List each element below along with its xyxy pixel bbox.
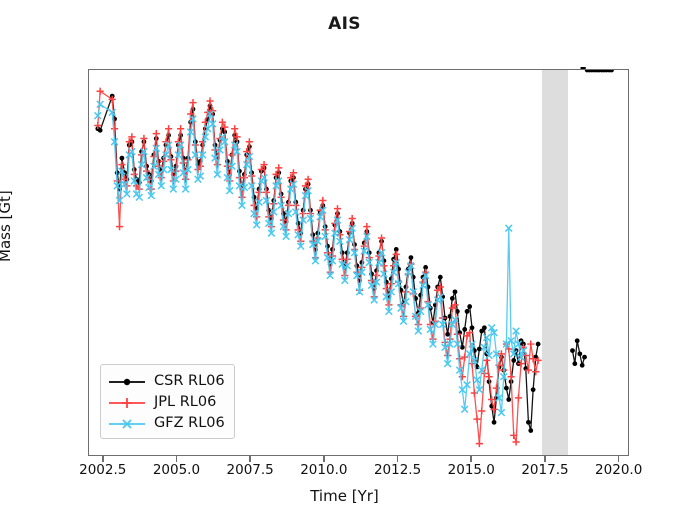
legend-label: CSR RL06 (154, 373, 225, 389)
x-axis-label: Time [Yr] (0, 487, 689, 505)
legend-item-gfz[interactable]: GFZ RL06 (108, 412, 225, 433)
legend-swatch-plus-icon (108, 395, 146, 409)
chart-figure: AIS b Mass [Gt] Time [Yr] 10005000−500−1… (0, 0, 689, 532)
x-tick-label: 2017.5 (521, 462, 568, 478)
x-tick-label: 2005.0 (153, 462, 200, 478)
legend-swatch-dot-icon (108, 374, 146, 388)
legend-item-jpl[interactable]: JPL RL06 (108, 391, 225, 412)
page-title: AIS (0, 14, 689, 34)
legend: CSR RL06JPL RL06GFZ RL06 (100, 364, 235, 439)
x-tick-label: 2015.0 (448, 462, 495, 478)
legend-swatch-x-icon (108, 416, 146, 430)
legend-item-csr[interactable]: CSR RL06 (108, 370, 225, 391)
legend-label: GFZ RL06 (154, 415, 225, 431)
x-tick-label: 2007.5 (227, 462, 274, 478)
x-tick-label: 2012.5 (374, 462, 421, 478)
x-tick-label: 2020.0 (595, 462, 642, 478)
x-tick-label: 2002.5 (79, 462, 126, 478)
y-axis-label: Mass [Gt] (0, 190, 14, 262)
x-tick-label: 2010.0 (300, 462, 347, 478)
legend-label: JPL RL06 (154, 394, 216, 410)
